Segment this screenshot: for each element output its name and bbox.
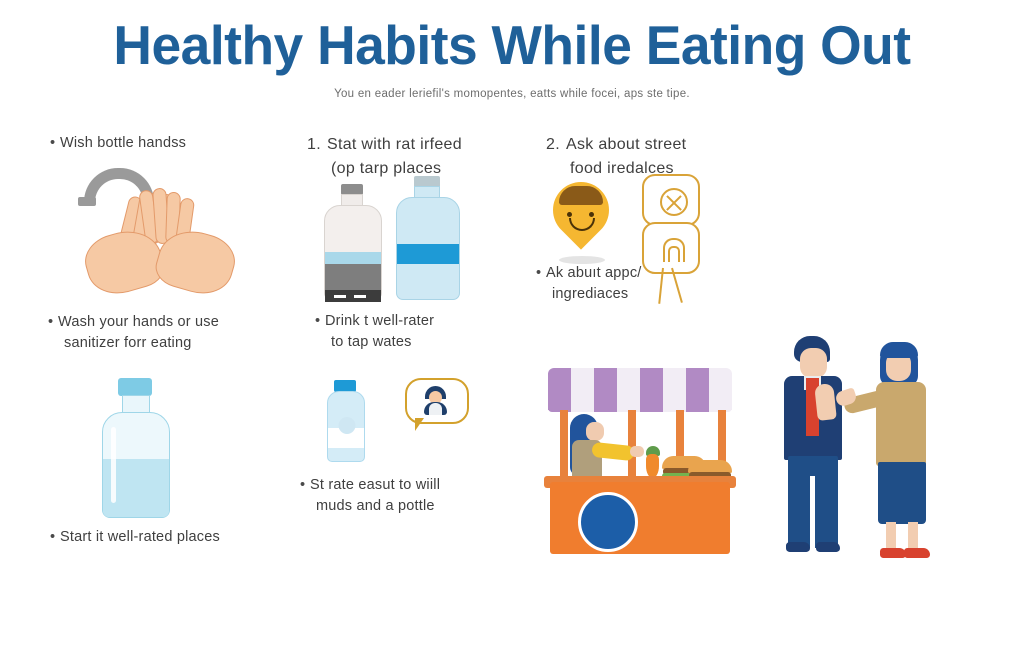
- left-caption-middle: •Wash your hands or use sanitizer forr e…: [60, 312, 290, 354]
- middle-heading-line1: Stat with rat irfeed: [327, 136, 462, 153]
- bottle-label-mark: [354, 295, 366, 298]
- middle-caption-middle-line2: to tap wates: [327, 332, 542, 353]
- two-people-conversation-illustration: [762, 336, 962, 568]
- bottle-label-band: [325, 264, 381, 290]
- bottle-cap-icon: [118, 378, 152, 396]
- bottle-highlight-shape: [111, 427, 116, 503]
- middle-caption-middle: •Drink t well-rater to tap wates: [327, 311, 542, 353]
- right-caption-line1: Ak abuıt appc/: [546, 265, 642, 281]
- right-heading-number: 2.: [546, 133, 566, 157]
- person-collar-shape: [429, 403, 442, 415]
- plastic-bottle-white-icon: [324, 184, 380, 300]
- bullet-dot-icon: •: [300, 475, 310, 496]
- bullet-dot-icon: •: [50, 527, 60, 548]
- left-caption-bottom-text: Start it well-rated places: [60, 529, 220, 545]
- bottle-label-badge-icon: [339, 417, 356, 434]
- middle-caption-middle-line1: Drink t well-rater: [325, 313, 434, 329]
- woman-skirt-shape: [878, 462, 926, 524]
- page-title: Healthy Habits While Eating Out: [15, 14, 1008, 76]
- handwashing-illustration: [72, 166, 272, 296]
- bottle-body-shape: [324, 205, 382, 300]
- carrot-icon: [646, 454, 659, 478]
- bullet-dot-icon: •: [315, 311, 325, 332]
- bullet-dot-icon: •: [50, 133, 60, 154]
- left-caption-middle-line1: Wash your hands or use: [58, 314, 219, 330]
- left-caption-bottom: •Start it well-rated places: [62, 527, 292, 548]
- page-subtitle: You en eader leriefil's momopentes, eatt…: [0, 86, 1024, 102]
- man-face-shape: [800, 348, 827, 378]
- man-praying-hands-shape: [814, 383, 837, 421]
- man-shoe-shape: [816, 542, 840, 552]
- stall-logo-badge: [578, 492, 638, 552]
- middle-caption-bottom-line2: muds and a pottle: [312, 496, 532, 517]
- glass-water-bottle-illustration: [86, 378, 196, 518]
- awning-edge-shape: [548, 404, 732, 412]
- bottle-body-shape: [396, 197, 460, 300]
- bottle-label-mark: [334, 295, 346, 298]
- left-caption-top: •Wish bottle handss: [62, 133, 186, 154]
- pin-face-hair-shape: [559, 186, 603, 205]
- arch-inner-icon: [668, 246, 680, 262]
- bottle-label-band: [325, 252, 381, 264]
- map-pin-shape: [541, 170, 620, 249]
- woman-shoe-shape: [904, 548, 930, 558]
- middle-caption-bottom: •St rate easut to wiill muds and a pottl…: [312, 475, 532, 517]
- two-plastic-bottles-illustration: [318, 172, 478, 300]
- middle-caption-bottom-line1: St rate easut to wiill: [310, 477, 440, 493]
- bottle-body-shape: [102, 412, 170, 518]
- right-caption-line2: ingrediaces: [548, 284, 728, 305]
- small-water-bottle-icon: [317, 380, 377, 460]
- man-shoe-shape: [786, 542, 810, 552]
- bullet-dot-icon: •: [536, 263, 546, 284]
- right-heading-line1: Ask about street: [566, 136, 686, 153]
- infographic-poster: Healthy Habits While Eating Out You en e…: [0, 0, 1024, 585]
- speech-bubble-tail: [415, 418, 424, 431]
- stall-counter: [550, 482, 730, 554]
- bottle-label-band: [397, 244, 459, 264]
- no-entry-icon: [660, 188, 688, 216]
- left-caption-top-text: Wish bottle handss: [60, 135, 186, 151]
- man-leg-gap: [810, 476, 815, 548]
- pin-face-eye-shape: [567, 212, 572, 217]
- pin-face-eye-shape: [589, 212, 594, 217]
- faucet-base-icon: [78, 197, 96, 206]
- bubble-top-outline: [642, 174, 700, 226]
- right-caption: •Ak abuıt appc/ ingrediaces: [548, 263, 728, 305]
- bullet-dot-icon: •: [48, 312, 58, 333]
- left-caption-middle-line2: sanitizer forr eating: [60, 333, 290, 354]
- vendor-face-shape: [586, 422, 604, 441]
- vendor-hand-shape: [630, 446, 644, 457]
- plastic-bottle-blue-icon: [396, 176, 458, 300]
- woman-shoe-shape: [880, 548, 906, 558]
- leaf-icon: [631, 632, 662, 659]
- woman-fringe-shape: [880, 342, 918, 358]
- street-food-stall-illustration: [540, 368, 740, 568]
- speech-bubble-with-person-icon: [405, 378, 469, 436]
- middle-heading-number: 1.: [307, 133, 327, 157]
